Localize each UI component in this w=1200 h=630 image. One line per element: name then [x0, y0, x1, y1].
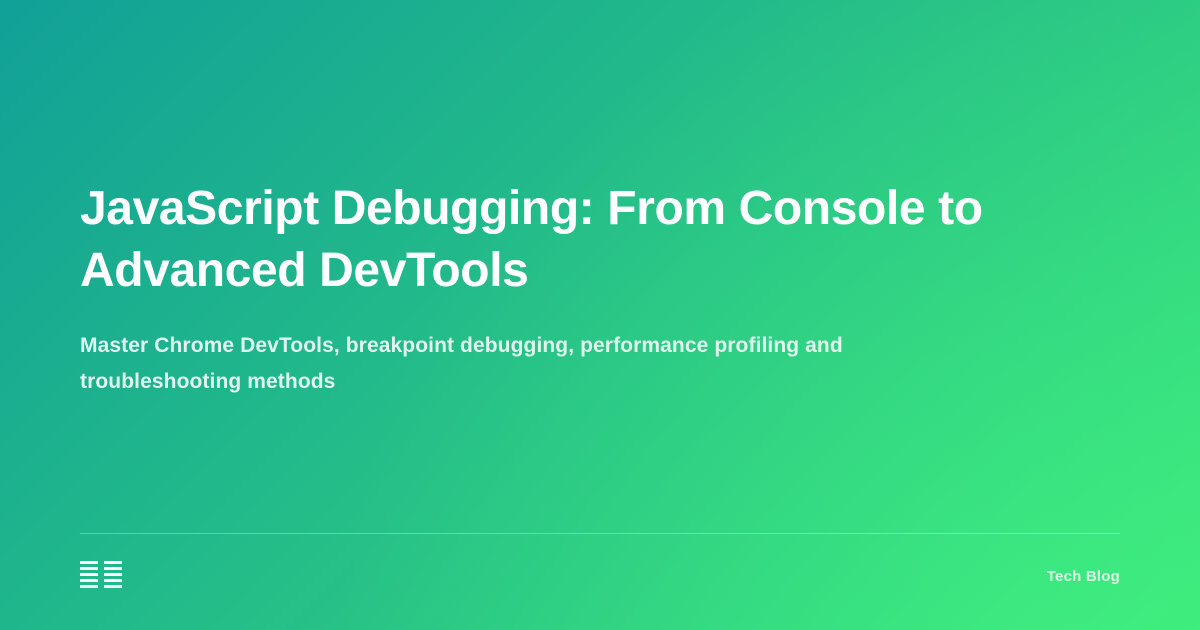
logo-bar	[104, 567, 122, 570]
logo-column-left	[80, 561, 98, 588]
footer-divider	[80, 533, 1120, 534]
logo-column-right	[104, 561, 122, 588]
footer-row: Tech Blog	[80, 560, 1120, 592]
page-subtitle-line-1: Master Chrome DevTools, breakpoint debug…	[80, 334, 843, 357]
logo-bar	[80, 573, 98, 576]
card-content: JavaScript Debugging: From Console toAdv…	[0, 0, 1200, 630]
card-footer: Tech Blog	[80, 533, 1120, 592]
page-title: JavaScript Debugging: From Console toAdv…	[80, 178, 1020, 302]
logo-bar	[80, 567, 98, 570]
og-card: JavaScript Debugging: From Console toAdv…	[0, 0, 1200, 630]
logo-bar	[104, 573, 122, 576]
brand-name: Tech Blog	[1047, 568, 1120, 585]
logo-bar	[104, 561, 122, 564]
logo-bar	[104, 585, 122, 588]
logo-bar	[80, 585, 98, 588]
hero-block: JavaScript Debugging: From Console toAdv…	[80, 178, 1120, 400]
logo-bar	[104, 579, 122, 582]
page-subtitle: Master Chrome DevTools, breakpoint debug…	[80, 328, 980, 400]
logo-bar	[80, 561, 98, 564]
page-title-line-2: Advanced DevTools	[80, 244, 528, 297]
page-title-line-1: JavaScript Debugging: From Console to	[80, 182, 983, 235]
page-subtitle-line-2: troubleshooting methods	[80, 370, 335, 393]
stacked-bars-logo-icon	[80, 561, 122, 591]
logo-bar	[80, 579, 98, 582]
